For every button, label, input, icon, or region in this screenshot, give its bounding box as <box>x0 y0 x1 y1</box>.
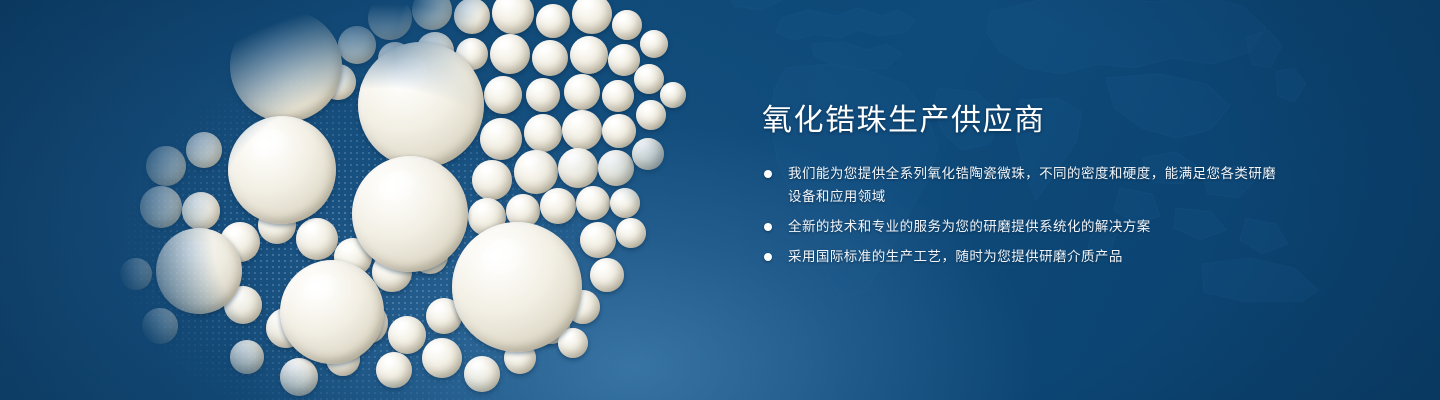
bullet-dot-icon <box>764 170 772 178</box>
bullet-dot-icon <box>764 253 772 261</box>
bullet-text: 全新的技术和专业的服务为您的研磨提供系统化的解决方案 <box>788 219 1151 234</box>
list-item: 采用国际标准的生产工艺，随时为您提供研磨介质产品 <box>762 245 1282 268</box>
list-item: 全新的技术和专业的服务为您的研磨提供系统化的解决方案 <box>762 215 1282 238</box>
list-item: 我们能为您提供全系列氧化锆陶瓷微珠，不同的密度和硬度，能满足您各类研磨设备和应用… <box>762 162 1282 208</box>
banner-copy: 氧化锆珠生产供应商 我们能为您提供全系列氧化锆陶瓷微珠，不同的密度和硬度，能满足… <box>762 104 1282 268</box>
hero-banner: 氧化锆珠生产供应商 我们能为您提供全系列氧化锆陶瓷微珠，不同的密度和硬度，能满足… <box>0 0 1440 400</box>
bullet-text: 我们能为您提供全系列氧化锆陶瓷微珠，不同的密度和硬度，能满足您各类研磨设备和应用… <box>788 166 1276 204</box>
banner-headline: 氧化锆珠生产供应商 <box>762 104 1282 138</box>
bullet-text: 采用国际标准的生产工艺，随时为您提供研磨介质产品 <box>788 249 1123 264</box>
banner-bullet-list: 我们能为您提供全系列氧化锆陶瓷微珠，不同的密度和硬度，能满足您各类研磨设备和应用… <box>762 162 1282 268</box>
bullet-dot-icon <box>764 223 772 231</box>
